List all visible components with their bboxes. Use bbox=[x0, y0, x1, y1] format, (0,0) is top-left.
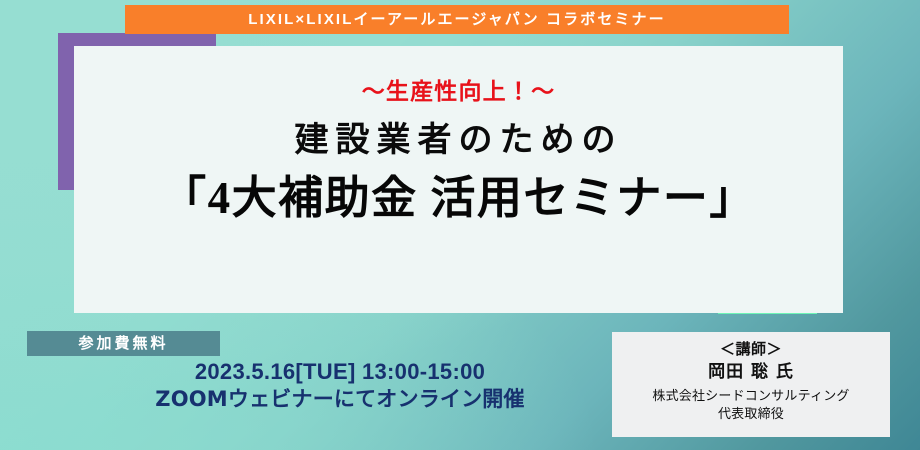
headline-text: 建設業者のための bbox=[295, 123, 623, 157]
title-card-inner: 〜生産性向上！〜 建設業者のための 「4大補助金 活用セミナー」 bbox=[74, 46, 843, 313]
event-date: 2023.5.16[TUE] 13:00-15:00 bbox=[130, 358, 550, 386]
seminar-banner: LIXIL×LIXILイーアールエージャパン コラボセミナー 〜生産性向上！〜 … bbox=[0, 0, 920, 450]
free-admission-badge: 参加費無料 bbox=[27, 331, 220, 356]
collab-ribbon: LIXIL×LIXILイーアールエージャパン コラボセミナー bbox=[125, 5, 789, 34]
purple-bracket-vertical bbox=[58, 33, 74, 190]
event-venue: ZOOMウェビナーにてオンライン開催 bbox=[130, 386, 550, 414]
speaker-box: ＜講師＞ 岡田 聡 氏 株式会社シードコンサルティング 代表取締役 bbox=[612, 332, 890, 437]
purple-bracket-horizontal bbox=[58, 33, 216, 46]
free-admission-label: 参加費無料 bbox=[78, 336, 168, 351]
speaker-position: 代表取締役 bbox=[718, 406, 784, 424]
speaker-company: 株式会社シードコンサルティング bbox=[652, 388, 849, 406]
kicker-text: 〜生産性向上！〜 bbox=[362, 80, 556, 103]
speaker-name: 岡田 聡 氏 bbox=[708, 360, 794, 385]
main-title-text: 「4大補助金 活用セミナー」 bbox=[161, 173, 756, 223]
collab-ribbon-text: LIXIL×LIXILイーアールエージャパン コラボセミナー bbox=[248, 12, 665, 27]
title-card: 〜生産性向上！〜 建設業者のための 「4大補助金 活用セミナー」 bbox=[74, 46, 843, 313]
schedule-block: 2023.5.16[TUE] 13:00-15:00 ZOOMウェビナーにてオン… bbox=[130, 358, 550, 414]
speaker-role-label: ＜講師＞ bbox=[720, 339, 782, 359]
